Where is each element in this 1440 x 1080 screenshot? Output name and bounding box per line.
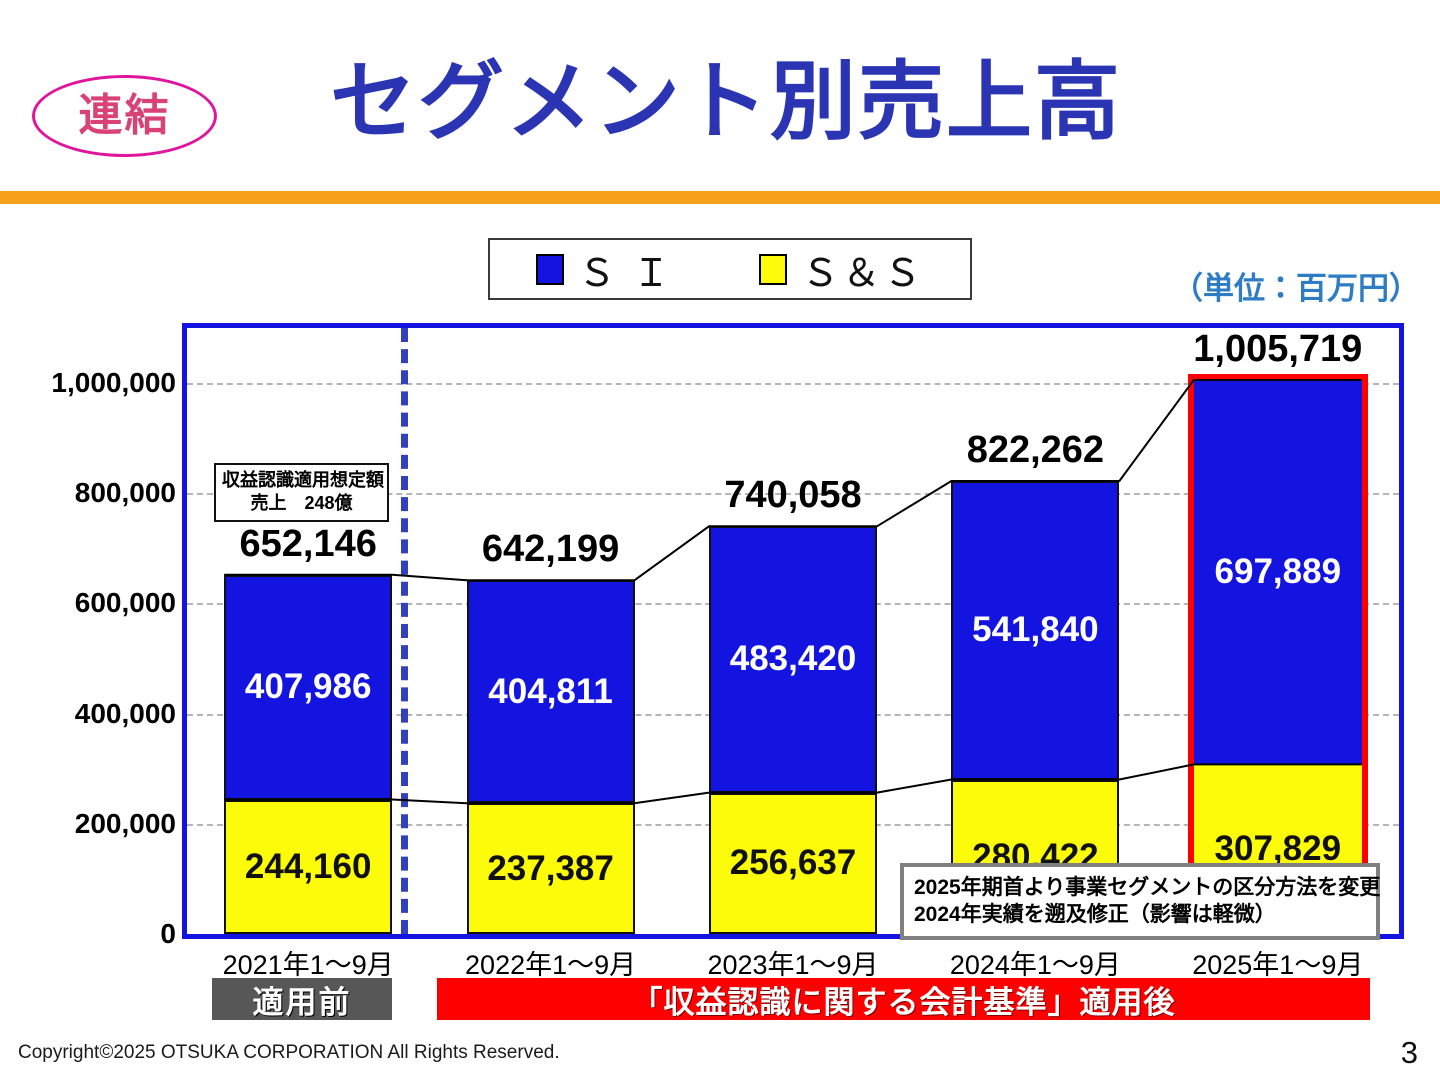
callout-segment-change-line1: 2025年期首より事業セグメントの区分方法を変更: [914, 874, 1366, 901]
band-after-application: 「収益認識に関する会計基準」適用後: [437, 978, 1370, 1020]
y-axis-tick-label: 800,000: [75, 477, 176, 509]
bar-segment-si-value: 541,840: [972, 610, 1099, 650]
yellow-square-swatch-icon: [759, 254, 787, 285]
bar-total-value: 822,262: [967, 429, 1104, 472]
unit-note: （単位：百万円）: [1172, 263, 1420, 308]
accounting-standard-divider: [401, 328, 408, 934]
y-axis-tick-label: 400,000: [75, 698, 176, 730]
bar-total-value: 642,199: [482, 528, 619, 571]
bar-segment-ss: 244,160: [224, 800, 392, 935]
chart-plot-inner: 244,160407,986652,146237,387404,811642,1…: [187, 328, 1399, 934]
legend-item-si: Ｓ Ｉ: [536, 242, 674, 297]
slide-root: 連結 セグメント別売上高 Ｓ Ｉ Ｓ＆Ｓ （単位：百万円） 244,160407…: [0, 0, 1440, 1080]
bar-total-value: 1,005,719: [1193, 328, 1362, 371]
callout-segment-change-line2: 2024年実績を遡及修正（影響は軽微）: [914, 901, 1366, 928]
blue-square-swatch-icon: [536, 254, 564, 285]
consolidated-badge: 連結: [32, 75, 217, 157]
chart-plot-area: 244,160407,986652,146237,387404,811642,1…: [182, 323, 1404, 939]
legend-item-ss: Ｓ＆Ｓ: [759, 242, 924, 297]
bar-segment-ss: 256,637: [709, 793, 877, 934]
bar-segment-si: 483,420: [709, 526, 877, 792]
x-axis-label: 2025年1～9月: [1192, 943, 1363, 982]
bar-2021年1～9月: 244,160407,986: [224, 575, 392, 934]
callout-segment-change: 2025年期首より事業セグメントの区分方法を変更 2024年実績を遡及修正（影響…: [900, 863, 1380, 940]
bar-segment-ss-value: 237,387: [487, 849, 614, 889]
copyright-notice: Copyright©2025 OTSUKA CORPORATION All Ri…: [18, 1042, 560, 1064]
bar-segment-ss-value: 244,160: [245, 847, 372, 887]
bar-segment-si-value: 407,986: [245, 667, 372, 707]
y-axis-tick-label: 0: [160, 918, 176, 950]
bar-2022年1～9月: 237,387404,811: [467, 580, 635, 934]
bar-segment-si: 407,986: [224, 575, 392, 800]
bar-2025年1～9月: 307,829697,889: [1194, 380, 1362, 934]
bar-segment-si: 541,840: [951, 481, 1119, 780]
y-axis-tick-label: 1,000,000: [51, 367, 176, 399]
consolidated-badge-label: 連結: [79, 94, 171, 138]
bar-segment-si-value: 404,811: [488, 672, 613, 712]
page-number: 3: [1401, 1035, 1418, 1071]
header-divider-rule: [0, 191, 1440, 204]
band-before-application-label: 適用前: [253, 977, 352, 1022]
legend-label-ss: Ｓ＆Ｓ: [801, 242, 924, 297]
y-axis-tick-label: 600,000: [75, 587, 176, 619]
bar-2023年1～9月: 256,637483,420: [709, 526, 877, 934]
legend-label-si: Ｓ Ｉ: [578, 242, 674, 297]
bar-segment-si: 404,811: [467, 580, 635, 803]
bar-segment-si-value: 483,420: [730, 639, 857, 679]
page-title: セグメント別売上高: [330, 52, 1122, 153]
callout-revenue-assumption-line2: 売上 248億: [222, 492, 381, 515]
bar-segment-ss: 237,387: [467, 803, 635, 934]
bar-segment-si: 697,889: [1194, 380, 1362, 764]
callout-revenue-assumption: 収益認識適用想定額 売上 248億: [214, 463, 389, 522]
bar-total-value: 652,146: [240, 523, 377, 566]
bar-total-value: 740,058: [724, 474, 861, 517]
band-before-application: 適用前: [212, 978, 392, 1020]
callout-revenue-assumption-line1: 収益認識適用想定額: [222, 469, 381, 492]
band-after-application-label: 「収益認識に関する会計基準」適用後: [632, 977, 1176, 1022]
y-axis-tick-label: 200,000: [75, 808, 176, 840]
chart-legend: Ｓ Ｉ Ｓ＆Ｓ: [488, 238, 972, 300]
bar-segment-ss-value: 256,637: [730, 843, 857, 883]
bar-segment-si-value: 697,889: [1215, 552, 1342, 592]
x-axis-label: 2022年1～9月: [465, 943, 636, 982]
